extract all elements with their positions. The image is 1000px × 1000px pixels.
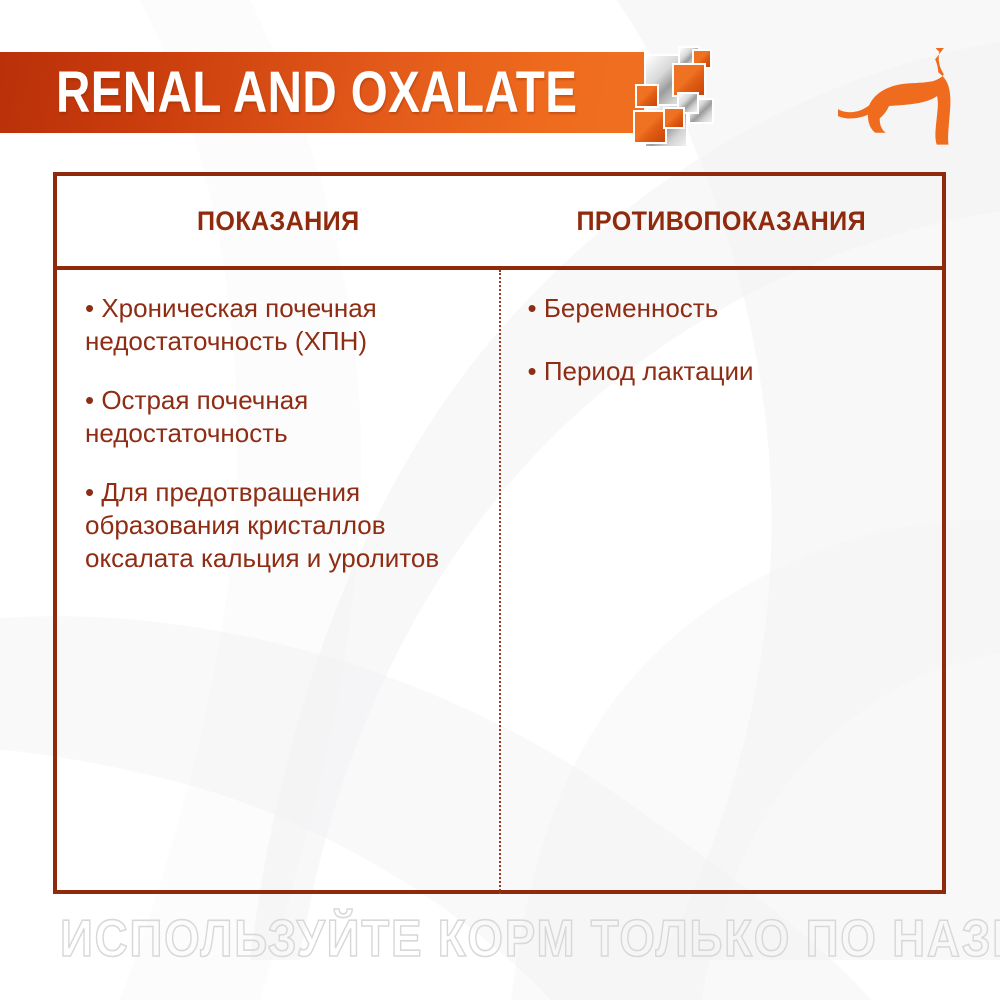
footer-notice: ИСПОЛЬЗУЙТЕ КОРМ ТОЛЬКО ПО НАЗНАЧЕНИЮ ВР… [60,908,940,970]
indications-cell: • Хроническая почечная недостаточность (… [57,270,500,894]
column-divider [499,270,501,894]
slide-canvas: RENAL AND OXALATE ПОКАЗАНИЯ ПРОТИВОПОКАЗ… [0,0,1000,1000]
list-item: • Острая почечная недостаточность [85,384,474,450]
table-header-row: ПОКАЗАНИЯ ПРОТИВОПОКАЗАНИЯ [57,176,942,270]
cat-silhouette-icon [838,48,970,154]
contraindications-cell: • Беременность • Период лактации [500,270,943,894]
column-header-contraindications: ПРОТИВОПОКАЗАНИЯ [515,176,927,266]
list-item: • Хроническая почечная недостаточность (… [85,292,474,358]
list-item: • Беременность [528,292,908,325]
column-header-indications: ПОКАЗАНИЯ [72,176,484,266]
page-title: RENAL AND OXALATE [56,56,548,130]
table-body-row: • Хроническая почечная недостаточность (… [57,270,942,894]
list-item: • Период лактации [528,355,908,388]
indications-table: ПОКАЗАНИЯ ПРОТИВОПОКАЗАНИЯ • Хроническая… [53,172,946,894]
list-item: • Для предотвращения образования кристал… [85,476,474,575]
